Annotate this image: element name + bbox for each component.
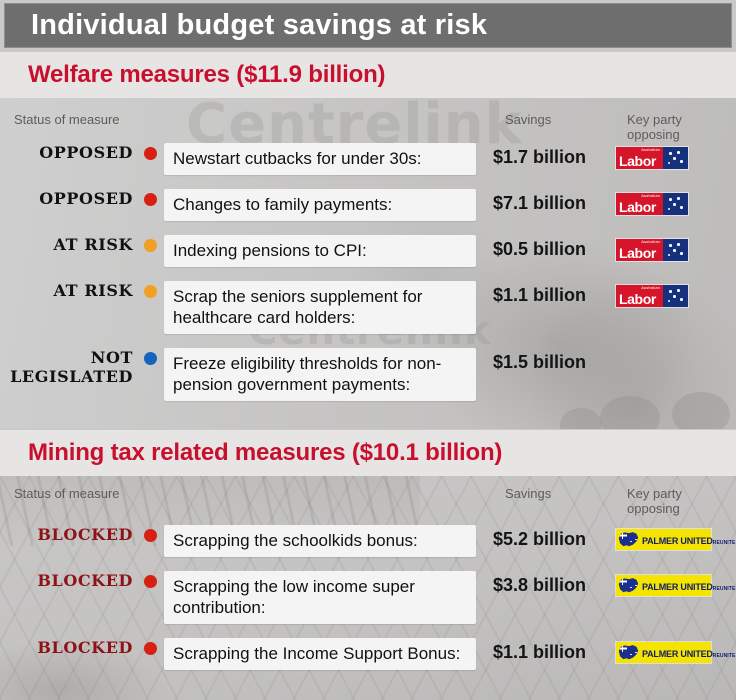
measure-status-line: BLOCKED xyxy=(37,638,133,657)
labor-logo-australian-text: Australian xyxy=(641,285,660,291)
measure-status-line: AT RISK xyxy=(54,235,133,254)
column-header-party: Key party opposing xyxy=(627,486,682,516)
union-jack-icon xyxy=(618,645,627,652)
palmer-logo-text: PALMER UNITEDREUNITE THE NATION xyxy=(639,531,736,549)
measure-savings-amount: $1.1 billion xyxy=(476,638,616,663)
palmer-logo-slogan: REUNITE THE NATION xyxy=(713,586,736,592)
measure-status-line: AT RISK xyxy=(54,281,133,300)
column-header-status: Status of measure xyxy=(14,112,120,127)
palmer-united-party-logo: PALMER UNITEDREUNITE THE NATION xyxy=(616,575,711,596)
labor-logo-red-block: AustralianLabor xyxy=(616,193,663,215)
measure-description: Scrap the seniors supplement for healthc… xyxy=(164,281,476,334)
measure-savings-amount: $1.1 billion xyxy=(476,281,616,306)
section-heading-welfare: Welfare measures ($11.9 billion) xyxy=(0,52,736,98)
column-header-party-line1: Key party xyxy=(627,112,682,127)
status-dot-cell xyxy=(136,281,164,298)
measure-status-label: AT RISK xyxy=(0,235,136,254)
column-header-party-line2: opposing xyxy=(627,501,680,516)
measure-row: AT RISKIndexing pensions to CPI:$0.5 bil… xyxy=(0,235,736,267)
star-icon xyxy=(630,587,632,589)
labor-logo-red-block: AustralianLabor xyxy=(616,285,663,307)
labor-logo-wordmark: Labor xyxy=(619,292,656,306)
star-icon xyxy=(630,541,632,543)
measure-description: Changes to family payments: xyxy=(164,189,476,221)
opposing-party-cell: PALMER UNITEDREUNITE THE NATION xyxy=(616,525,736,553)
opposing-party-cell: PALMER UNITEDREUNITE THE NATION xyxy=(616,638,736,666)
opposing-party-cell: AustralianLabor xyxy=(616,235,736,263)
status-dot-blocked-icon xyxy=(144,642,157,655)
star-icon xyxy=(618,645,620,647)
status-dot-blocked-icon xyxy=(144,529,157,542)
column-header-status: Status of measure xyxy=(14,486,120,501)
labor-logo-wordmark: Labor xyxy=(619,200,656,214)
measure-description: Newstart cutbacks for under 30s: xyxy=(164,143,476,175)
australia-map-icon xyxy=(618,578,639,594)
labor-logo-southern-cross-icon xyxy=(663,239,688,261)
measure-row: BLOCKEDScrapping the schoolkids bonus:$5… xyxy=(0,525,736,557)
rows-mining: BLOCKEDScrapping the schoolkids bonus:$5… xyxy=(0,525,736,684)
measure-row: BLOCKEDScrapping the Income Support Bonu… xyxy=(0,638,736,670)
status-dot-cell xyxy=(136,143,164,160)
measure-savings-amount: $3.8 billion xyxy=(476,571,616,596)
infographic-root: Centrelink Centrelink Individual budget … xyxy=(0,0,736,700)
status-dot-cell xyxy=(136,348,164,365)
measure-status-line: NOT xyxy=(91,348,133,367)
measure-savings-amount: $1.5 billion xyxy=(476,348,616,373)
labor-party-logo: AustralianLabor xyxy=(616,239,688,261)
section-heading-mining-label: Mining tax related measures ($10.1 billi… xyxy=(0,439,502,467)
labor-logo-wordmark: Labor xyxy=(619,154,656,168)
measure-savings-amount: $0.5 billion xyxy=(476,235,616,260)
opposing-party-cell: AustralianLabor xyxy=(616,189,736,217)
status-dot-cell xyxy=(136,571,164,588)
measure-row: NOTLEGISLATEDFreeze eligibility threshol… xyxy=(0,348,736,401)
palmer-logo-text: PALMER UNITEDREUNITE THE NATION xyxy=(639,644,736,662)
status-dot-not-legislated-icon xyxy=(144,352,157,365)
measure-row: OPPOSEDNewstart cutbacks for under 30s:$… xyxy=(0,143,736,175)
measure-savings-amount: $5.2 billion xyxy=(476,525,616,550)
star-icon xyxy=(618,532,620,534)
australia-map-icon xyxy=(618,532,639,548)
opposing-party-cell: AustralianLabor xyxy=(616,281,736,309)
status-dot-cell xyxy=(136,525,164,542)
status-dot-cell xyxy=(136,235,164,252)
status-dot-at-risk-icon xyxy=(144,285,157,298)
measure-savings-amount: $1.7 billion xyxy=(476,143,616,168)
opposing-party-cell: AustralianLabor xyxy=(616,143,736,171)
labor-party-logo: AustralianLabor xyxy=(616,193,688,215)
section-heading-mining: Mining tax related measures ($10.1 billi… xyxy=(0,430,736,476)
labor-logo-southern-cross-icon xyxy=(663,193,688,215)
status-dot-at-risk-icon xyxy=(144,239,157,252)
measure-status-line: BLOCKED xyxy=(37,571,133,590)
labor-party-logo: AustralianLabor xyxy=(616,147,688,169)
rows-welfare: OPPOSEDNewstart cutbacks for under 30s:$… xyxy=(0,143,736,415)
measure-row: AT RISKScrap the seniors supplement for … xyxy=(0,281,736,334)
measure-status-label: OPPOSED xyxy=(0,143,136,162)
column-header-savings: Savings xyxy=(505,112,551,127)
measure-description: Scrapping the low income super contribut… xyxy=(164,571,476,624)
labor-logo-australian-text: Australian xyxy=(641,193,660,199)
measure-status-label: OPPOSED xyxy=(0,189,136,208)
star-icon xyxy=(635,539,637,541)
status-dot-cell xyxy=(136,189,164,206)
labor-logo-southern-cross-icon xyxy=(663,285,688,307)
star-icon xyxy=(635,585,637,587)
column-header-party: Key party opposing xyxy=(627,112,682,142)
status-dot-cell xyxy=(136,638,164,655)
palmer-logo-name: PALMER UNITED xyxy=(642,582,713,592)
star-icon xyxy=(630,654,632,656)
palmer-logo-text: PALMER UNITEDREUNITE THE NATION xyxy=(639,577,736,595)
labor-logo-australian-text: Australian xyxy=(641,147,660,153)
measure-description: Freeze eligibility thresholds for non-pe… xyxy=(164,348,476,401)
palmer-united-party-logo: PALMER UNITEDREUNITE THE NATION xyxy=(616,642,711,663)
column-header-savings: Savings xyxy=(505,486,551,501)
labor-logo-red-block: AustralianLabor xyxy=(616,239,663,261)
measure-description: Indexing pensions to CPI: xyxy=(164,235,476,267)
measure-status-line: LEGISLATED xyxy=(10,367,133,386)
title-bar: Individual budget savings at risk xyxy=(4,3,732,48)
palmer-logo-name: PALMER UNITED xyxy=(642,649,713,659)
star-icon xyxy=(635,652,637,654)
star-icon xyxy=(618,578,620,580)
palmer-logo-slogan: REUNITE THE NATION xyxy=(713,653,736,659)
measure-status-label: BLOCKED xyxy=(0,571,136,590)
union-jack-icon xyxy=(618,532,627,539)
union-jack-icon xyxy=(618,578,627,585)
measure-status-line: OPPOSED xyxy=(39,143,133,162)
labor-logo-australian-text: Australian xyxy=(641,239,660,245)
measure-description: Scrapping the schoolkids bonus: xyxy=(164,525,476,557)
status-dot-opposed-icon xyxy=(144,193,157,206)
labor-logo-wordmark: Labor xyxy=(619,246,656,260)
measure-status-line: BLOCKED xyxy=(37,525,133,544)
page-title: Individual budget savings at risk xyxy=(5,9,487,42)
star-icon xyxy=(633,590,635,592)
measure-status-line: OPPOSED xyxy=(39,189,133,208)
measure-row: BLOCKEDScrapping the low income super co… xyxy=(0,571,736,624)
measure-savings-amount: $7.1 billion xyxy=(476,189,616,214)
palmer-logo-slogan: REUNITE THE NATION xyxy=(713,540,736,546)
opposing-party-cell xyxy=(616,348,736,352)
labor-logo-red-block: AustralianLabor xyxy=(616,147,663,169)
column-header-party-line2: opposing xyxy=(627,127,680,142)
column-headers-mining: Status of measure Savings Key party oppo… xyxy=(0,482,736,518)
measure-row: OPPOSEDChanges to family payments:$7.1 b… xyxy=(0,189,736,221)
labor-party-logo: AustralianLabor xyxy=(616,285,688,307)
labor-logo-southern-cross-icon xyxy=(663,147,688,169)
measure-description: Scrapping the Income Support Bonus: xyxy=(164,638,476,670)
star-icon xyxy=(633,544,635,546)
measure-status-label: BLOCKED xyxy=(0,525,136,544)
star-icon xyxy=(633,657,635,659)
australia-map-icon xyxy=(618,645,639,661)
measure-status-label: AT RISK xyxy=(0,281,136,300)
column-headers-welfare: Status of measure Savings Key party oppo… xyxy=(0,108,736,144)
measure-status-label: BLOCKED xyxy=(0,638,136,657)
palmer-logo-name: PALMER UNITED xyxy=(642,536,713,546)
palmer-united-party-logo: PALMER UNITEDREUNITE THE NATION xyxy=(616,529,711,550)
measure-status-label: NOTLEGISLATED xyxy=(0,348,136,386)
opposing-party-cell: PALMER UNITEDREUNITE THE NATION xyxy=(616,571,736,599)
section-heading-welfare-label: Welfare measures ($11.9 billion) xyxy=(0,61,385,89)
status-dot-opposed-icon xyxy=(144,147,157,160)
status-dot-blocked-icon xyxy=(144,575,157,588)
column-header-party-line1: Key party xyxy=(627,486,682,501)
